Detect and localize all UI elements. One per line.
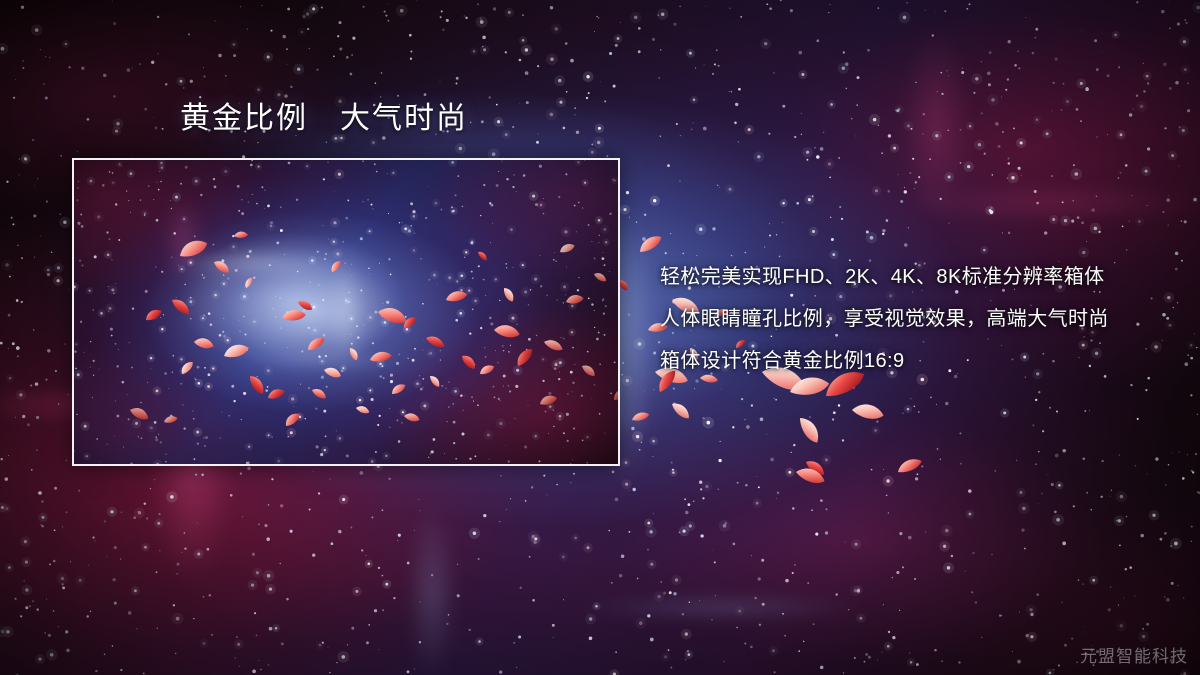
watermark: 元盟智能科技 xyxy=(1080,642,1188,667)
body-line-3: 箱体设计符合黄金比例16:9 xyxy=(660,340,1180,382)
panel-vignette xyxy=(74,160,618,464)
framed-image-panel xyxy=(72,158,620,466)
body-text-block: 轻松完美实现FHD、2K、4K、8K标准分辨率箱体 人体眼睛瞳孔比例，享受视觉效… xyxy=(660,256,1180,382)
presentation-slide: 黄金比例 大气时尚 轻松完美实现FHD、2K、4K、8K标准分辨率箱体 人体眼睛… xyxy=(0,0,1200,675)
body-line-2: 人体眼睛瞳孔比例，享受视觉效果，高端大气时尚 xyxy=(660,298,1180,340)
body-line-1: 轻松完美实现FHD、2K、4K、8K标准分辨率箱体 xyxy=(660,256,1180,298)
page-title: 黄金比例 大气时尚 xyxy=(180,101,468,136)
